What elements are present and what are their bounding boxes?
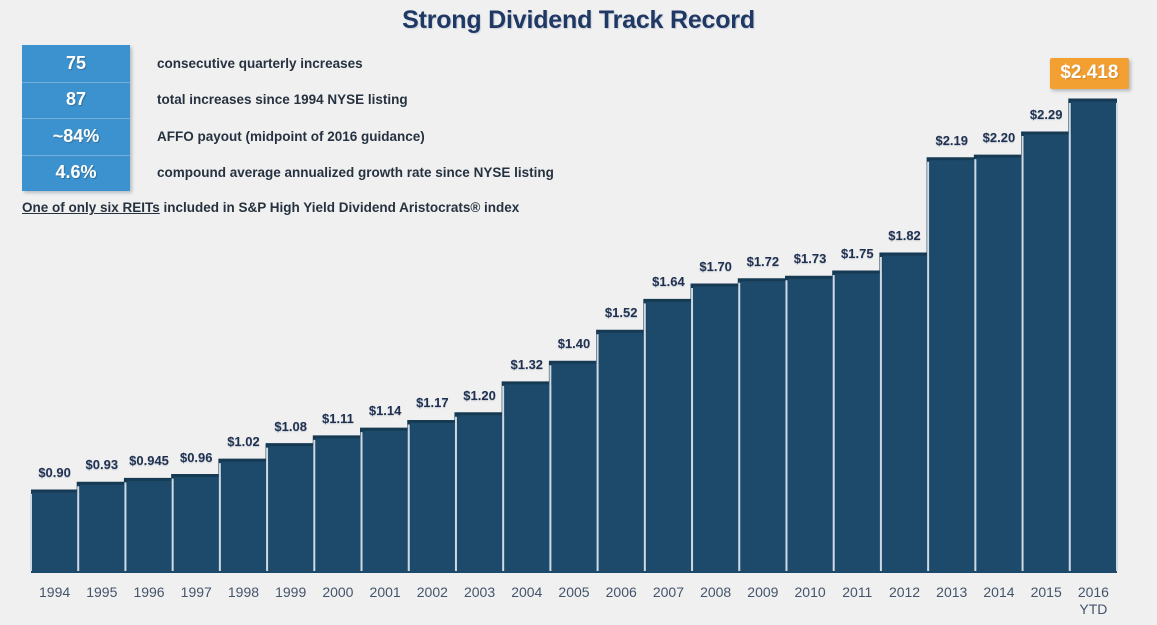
data-label: $1.72 [747, 254, 780, 269]
x-axis-label: 2008 [700, 584, 731, 600]
stat-divider [22, 155, 130, 156]
data-label: $1.02 [227, 434, 260, 449]
x-axis-label: 2004 [511, 584, 542, 600]
x-axis-label-year: 2012 [889, 584, 920, 600]
x-axis-label: 1997 [181, 584, 212, 600]
stat-value: 75 [22, 53, 130, 74]
x-axis-label-year: 2013 [936, 584, 967, 600]
x-axis-label-year: 2016 [1078, 584, 1109, 600]
data-label: $1.73 [794, 251, 827, 266]
stat-divider [22, 82, 130, 83]
x-axis-label-year: 2005 [558, 584, 589, 600]
data-label: $1.17 [416, 395, 449, 410]
x-axis-label-year: 2003 [464, 584, 495, 600]
x-axis-label: 2014 [983, 584, 1014, 600]
data-label: $1.20 [463, 388, 496, 403]
x-axis-label-sublabel: YTD [1078, 600, 1109, 619]
data-label: $1.11 [322, 411, 354, 426]
x-axis-label-year: 2004 [511, 584, 542, 600]
x-axis-label: 1999 [275, 584, 306, 600]
data-label: $1.52 [605, 305, 638, 320]
x-axis-label: 1998 [228, 584, 259, 600]
data-label: $0.90 [38, 465, 71, 480]
x-axis-label-year: 2006 [606, 584, 637, 600]
page-title: Strong Dividend Track Record [0, 6, 1157, 35]
stat-label: total increases since 1994 NYSE listing [157, 92, 408, 107]
stat-value: 4.6% [22, 162, 130, 183]
x-axis-label-year: 2011 [842, 584, 872, 600]
x-axis-label: 2000 [322, 584, 353, 600]
x-axis-label-year: 2007 [653, 584, 684, 600]
stat-label: AFFO payout (midpoint of 2016 guidance) [157, 129, 425, 144]
x-axis-label: 1996 [133, 584, 164, 600]
x-axis-label: 2003 [464, 584, 495, 600]
data-label: $1.08 [274, 419, 307, 434]
footnote-rest: included in S&P High Yield Dividend Aris… [160, 200, 520, 215]
footnote: One of only six REITs included in S&P Hi… [22, 200, 519, 215]
x-axis-label: 2002 [417, 584, 448, 600]
data-label: $1.75 [841, 246, 874, 261]
x-axis-label-year: 1994 [39, 584, 70, 600]
x-axis-label-year: 1995 [86, 584, 117, 600]
data-label: $2.29 [1030, 107, 1063, 122]
data-label: $0.96 [180, 450, 213, 465]
data-label: $1.82 [888, 228, 921, 243]
x-axis-label: 2010 [795, 584, 826, 600]
highlight-data-label: $2.418 [1050, 58, 1128, 89]
data-label: $0.945 [129, 453, 169, 468]
data-label: $2.19 [935, 133, 968, 148]
data-label: $1.70 [699, 259, 732, 274]
x-axis-label: 2011 [842, 584, 872, 600]
stat-divider [22, 118, 130, 119]
data-label: $0.93 [86, 457, 119, 472]
stats-block: 75 consecutive quarterly increases 87 to… [22, 45, 602, 191]
x-axis-label: 2001 [370, 584, 401, 600]
x-axis-label-year: 2010 [795, 584, 826, 600]
data-label: $1.14 [369, 403, 402, 418]
stat-row: 4.6% compound average annualized growth … [22, 155, 602, 192]
x-axis-label: 2006 [606, 584, 637, 600]
x-axis-label-year: 2014 [983, 584, 1014, 600]
x-axis-label: 2013 [936, 584, 967, 600]
x-axis-label-year: 2015 [1031, 584, 1062, 600]
x-axis-label-year: 1996 [133, 584, 164, 600]
stat-label: compound average annualized growth rate … [157, 165, 554, 180]
slide-canvas: Strong Dividend Track Record 75 consecut… [0, 0, 1157, 625]
data-label: $1.40 [558, 336, 591, 351]
data-label: $1.64 [652, 274, 685, 289]
data-label: $2.20 [983, 130, 1016, 145]
x-axis-label-year: 1997 [181, 584, 212, 600]
x-axis-label-year: 1999 [275, 584, 306, 600]
x-axis-label: 1995 [86, 584, 117, 600]
x-axis-label: 2009 [747, 584, 778, 600]
x-axis-label-year: 2008 [700, 584, 731, 600]
x-axis-label: 2005 [558, 584, 589, 600]
x-axis-label: 2012 [889, 584, 920, 600]
x-axis-label-year: 2002 [417, 584, 448, 600]
stat-row: 87 total increases since 1994 NYSE listi… [22, 82, 602, 119]
x-axis-label-year: 2000 [322, 584, 353, 600]
stat-value: ~84% [22, 126, 130, 147]
stat-label: consecutive quarterly increases [157, 56, 363, 71]
x-axis-label-year: 2001 [370, 584, 401, 600]
stat-row: 75 consecutive quarterly increases [22, 45, 602, 82]
data-label: $1.32 [511, 357, 544, 372]
x-axis-label-year: 1998 [228, 584, 259, 600]
x-axis-label: 2007 [653, 584, 684, 600]
footnote-underlined: One of only six REITs [22, 200, 160, 215]
x-axis-label: 2015 [1031, 584, 1062, 600]
stat-value: 87 [22, 89, 130, 110]
x-axis-label: 1994 [39, 584, 70, 600]
x-axis-label: 2016YTD [1078, 584, 1109, 619]
stat-row: ~84% AFFO payout (midpoint of 2016 guida… [22, 118, 602, 155]
x-axis-label-year: 2009 [747, 584, 778, 600]
